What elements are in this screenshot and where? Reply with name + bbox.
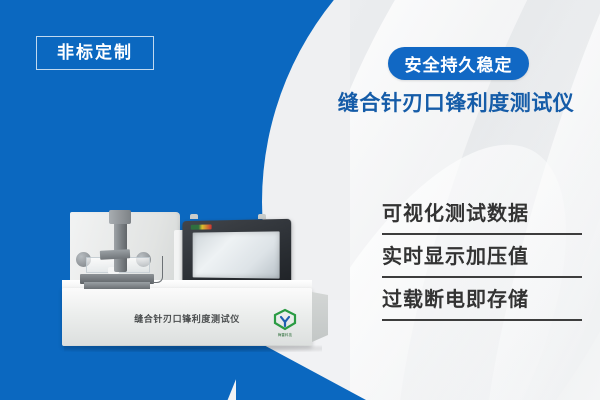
logo-shield-icon — [268, 308, 302, 332]
feature-label: 过载断电即存储 — [382, 289, 582, 312]
manufacturer-logo: 梅雷科技 — [268, 308, 302, 338]
machine-shadow — [64, 345, 322, 352]
feature-label: 可视化测试数据 — [382, 203, 582, 226]
product-title: 缝合针刃口锋利度测试仪 — [325, 92, 587, 115]
feature-item: 实时显示加压值 — [382, 246, 582, 278]
machine-knob — [190, 214, 198, 219]
machine-knob — [258, 214, 266, 219]
fixture-plate — [84, 282, 150, 289]
needle-arm — [100, 249, 130, 260]
sensor-cable — [152, 256, 163, 283]
feature-list: 可视化测试数据 实时显示加压值 过载断电即存储 — [382, 203, 582, 332]
needle-column-head — [109, 210, 131, 224]
feature-item: 可视化测试数据 — [382, 203, 582, 235]
hmi-screen-display — [193, 231, 280, 278]
logo-caption: 梅雷科技 — [268, 333, 302, 338]
feature-label: 实时显示加压值 — [382, 246, 582, 269]
stability-pill-badge: 安全持久稳定 — [388, 47, 529, 80]
product-photo: 缝合针刃口锋利度测试仪 梅雷科技 — [62, 208, 340, 360]
machine-body-side — [312, 292, 328, 342]
feature-item: 过载断电即存储 — [382, 289, 582, 321]
screen-brand-tag — [191, 224, 212, 229]
custom-order-badge: 非标定制 — [36, 36, 154, 70]
product-banner: 非标定制 安全持久稳定 缝合针刃口锋利度测试仪 可视化测试数据 实时显示加压值 … — [0, 0, 600, 400]
